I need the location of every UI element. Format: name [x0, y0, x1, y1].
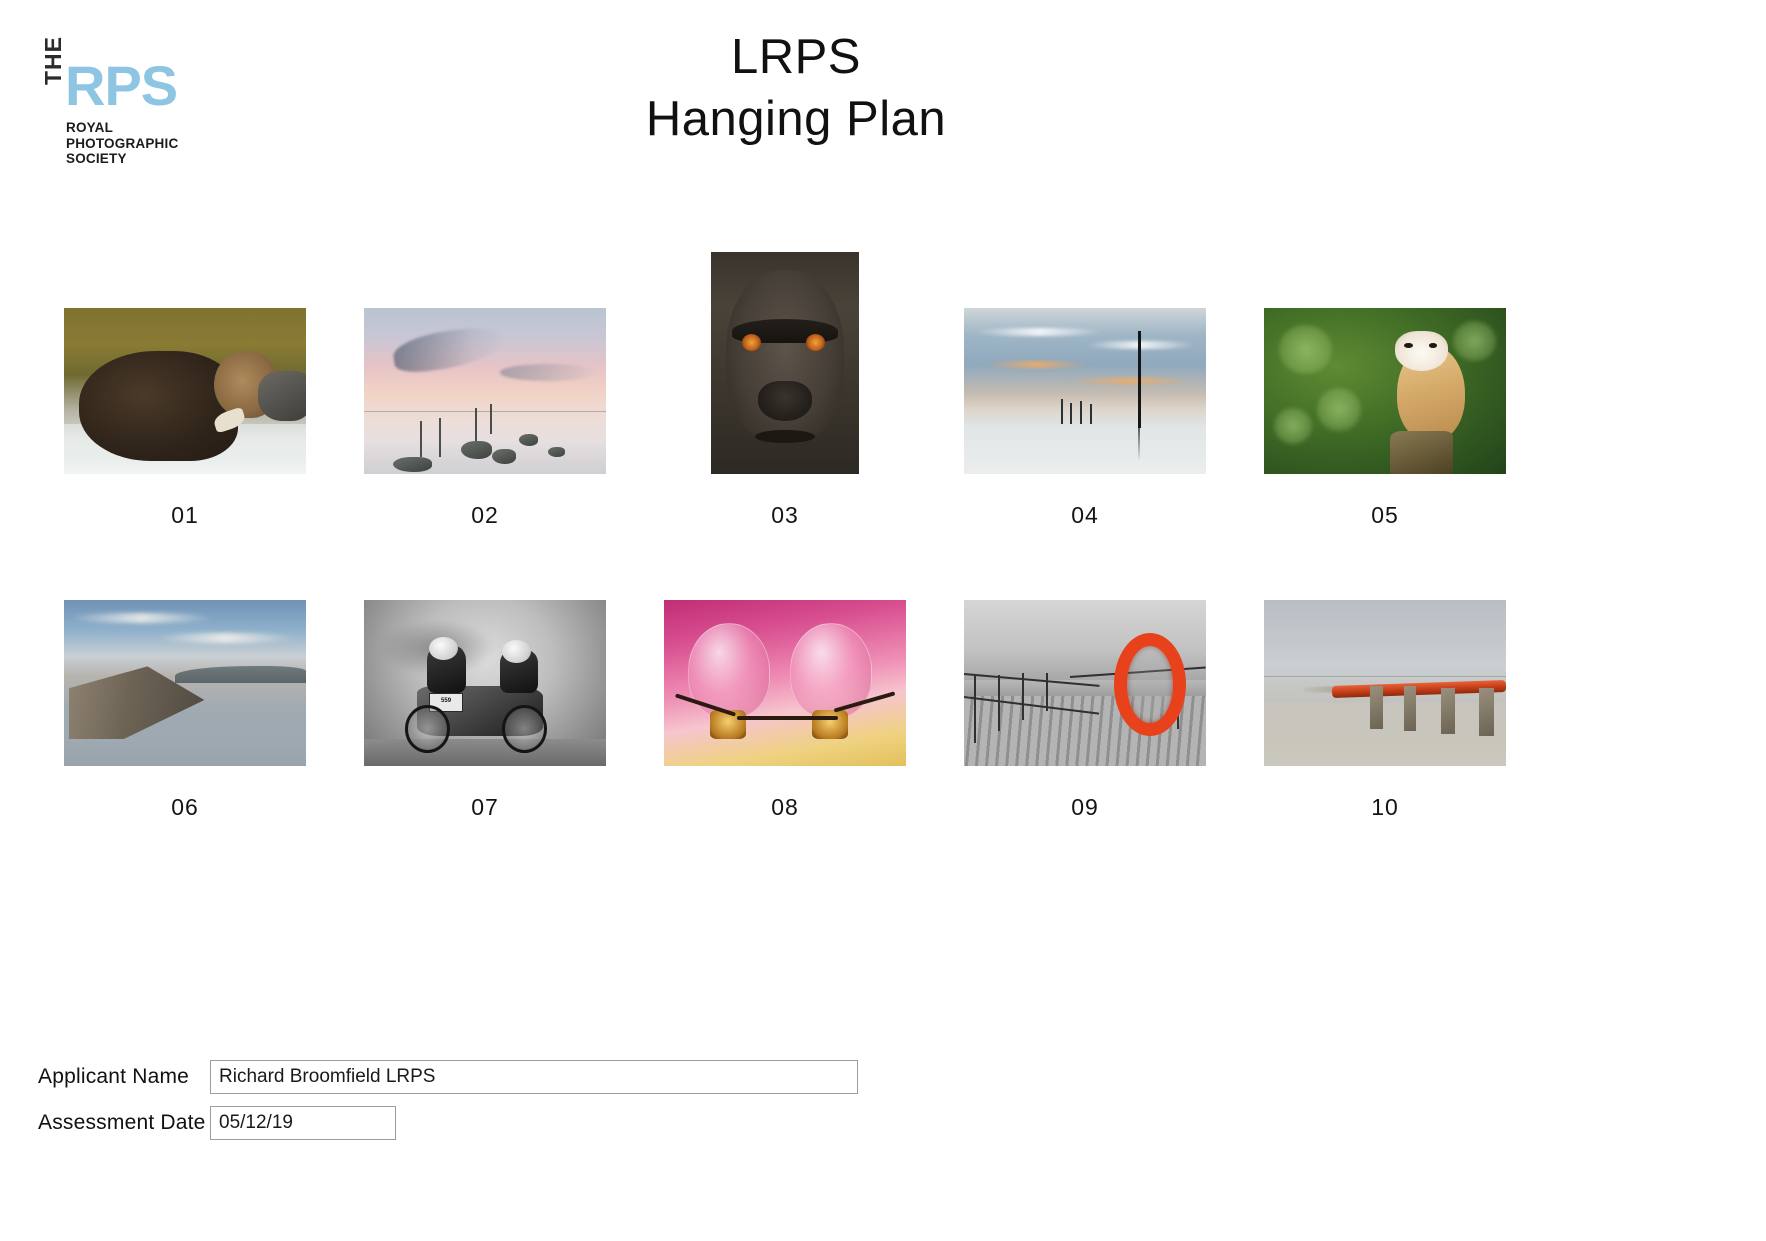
logo-subtitle-line3: SOCIETY: [66, 151, 178, 167]
horizon-line: [1264, 676, 1506, 677]
photo-frame-03: [711, 232, 859, 474]
rock: [393, 457, 432, 472]
applicant-form: Applicant Name Richard Broomfield LRPS A…: [38, 1060, 938, 1152]
photo-caption-07: 07: [471, 794, 499, 821]
photo-caption-09: 09: [1071, 794, 1099, 821]
cloud-streak: [156, 633, 296, 643]
photo-caption-08: 08: [771, 794, 799, 821]
applicant-name-row: Applicant Name Richard Broomfield LRPS: [38, 1060, 938, 1094]
rail-post: [998, 675, 1000, 731]
tall-pier-post: [1138, 331, 1141, 427]
rail-post: [1046, 673, 1048, 711]
cloud-streak: [974, 328, 1105, 336]
photo-image-07[interactable]: 559: [364, 600, 606, 766]
gallery-item-08[interactable]: 08: [635, 524, 935, 821]
rock: [519, 434, 538, 446]
small-post: [1080, 401, 1082, 424]
photo-frame-07: 559: [364, 524, 606, 766]
sunset-streak: [983, 361, 1089, 368]
photo-image-08[interactable]: [664, 600, 906, 766]
photo-image-10[interactable]: [1264, 600, 1506, 766]
rail-post: [974, 676, 976, 742]
gorilla-eye-right: [806, 334, 825, 351]
photo-image-01[interactable]: [64, 308, 306, 474]
bulb-base-right: [812, 710, 848, 740]
red-lifebuoy: [1114, 633, 1186, 735]
gallery-item-07[interactable]: 559 07: [335, 524, 635, 821]
cloud-shape: [391, 324, 506, 376]
photo-image-02[interactable]: [364, 308, 606, 474]
gorilla-nose: [758, 381, 811, 421]
bokeh-circle: [1453, 321, 1497, 361]
helmet-passenger: [502, 640, 531, 663]
cloud-shape-secondary: [500, 364, 597, 381]
sunset-streak: [1066, 378, 1197, 385]
pier-post: [490, 404, 492, 434]
bokeh-circle: [1317, 388, 1361, 431]
bear-body: [79, 351, 239, 461]
rock: [548, 447, 565, 457]
gallery-item-02[interactable]: 02: [335, 232, 635, 529]
pier-post: [475, 408, 477, 441]
photo-frame-06: [64, 524, 306, 766]
rock: [461, 441, 492, 459]
gallery-item-09[interactable]: 09: [935, 524, 1235, 821]
page-title-line1: LRPS: [0, 26, 1592, 88]
gallery-item-06[interactable]: 06: [35, 524, 335, 821]
sea-surface: [964, 424, 1206, 474]
tree-stump: [1390, 431, 1453, 474]
gallery-row-2: 06 559 07: [0, 524, 1592, 821]
spectacle-bridge: [737, 716, 839, 720]
horizon-line: [364, 411, 606, 412]
gallery-item-05[interactable]: 05: [1235, 232, 1535, 529]
helmet-driver: [429, 637, 458, 660]
gallery-item-04[interactable]: 04: [935, 232, 1235, 529]
assessment-date-input[interactable]: 05/12/19: [210, 1106, 396, 1140]
gallery-item-01[interactable]: 01: [35, 232, 335, 529]
small-post: [1090, 404, 1092, 424]
pier-pile: [1370, 686, 1382, 729]
page-title: LRPS Hanging Plan: [0, 26, 1592, 150]
post-reflection: [1138, 424, 1140, 461]
cloud-streak: [69, 613, 214, 623]
pier-pile: [1404, 686, 1416, 731]
wet-sand: [1264, 703, 1506, 766]
distant-hills: [175, 666, 306, 683]
gorilla-mouth: [755, 430, 814, 443]
photo-frame-09: [964, 524, 1206, 766]
photo-caption-10: 10: [1371, 794, 1399, 821]
pier-pile: [1441, 688, 1456, 734]
bokeh-circle: [1274, 408, 1313, 445]
photo-frame-04: [964, 232, 1206, 474]
river-rock: [258, 371, 306, 421]
applicant-name-label: Applicant Name: [38, 1065, 210, 1089]
front-wheel: [405, 705, 450, 753]
pier-pile: [1479, 688, 1494, 736]
photo-image-05[interactable]: [1264, 308, 1506, 474]
track-ground: [364, 739, 606, 766]
gallery-item-10[interactable]: 10: [1235, 524, 1535, 821]
bokeh-circle: [1279, 325, 1332, 375]
gorilla-eye-left: [742, 334, 761, 351]
small-post: [1070, 403, 1072, 425]
assessment-date-label: Assessment Date: [38, 1111, 210, 1135]
photo-frame-01: [64, 232, 306, 474]
rail-post: [1022, 673, 1024, 719]
photo-image-09[interactable]: [964, 600, 1206, 766]
pier-post: [420, 421, 422, 458]
photo-caption-06: 06: [171, 794, 199, 821]
photo-image-06[interactable]: [64, 600, 306, 766]
owl-head: [1395, 331, 1448, 371]
owl-eye-left: [1404, 343, 1412, 348]
page-title-line2: Hanging Plan: [0, 88, 1592, 150]
photo-frame-05: [1264, 232, 1506, 474]
photo-frame-02: [364, 232, 606, 474]
photo-frame-08: [664, 524, 906, 766]
small-post: [1061, 399, 1063, 424]
rear-wheel: [502, 705, 547, 753]
gallery-row-1: 01 02: [0, 232, 1592, 529]
photo-image-04[interactable]: [964, 308, 1206, 474]
owl-eye-right: [1429, 343, 1437, 348]
assessment-date-row: Assessment Date 05/12/19: [38, 1106, 938, 1140]
pier-post: [439, 418, 441, 458]
gallery-item-03[interactable]: 03: [635, 232, 935, 529]
photo-frame-10: [1264, 524, 1506, 766]
photo-image-03[interactable]: [711, 252, 859, 474]
rock: [492, 449, 516, 464]
applicant-name-input[interactable]: Richard Broomfield LRPS: [210, 1060, 858, 1094]
